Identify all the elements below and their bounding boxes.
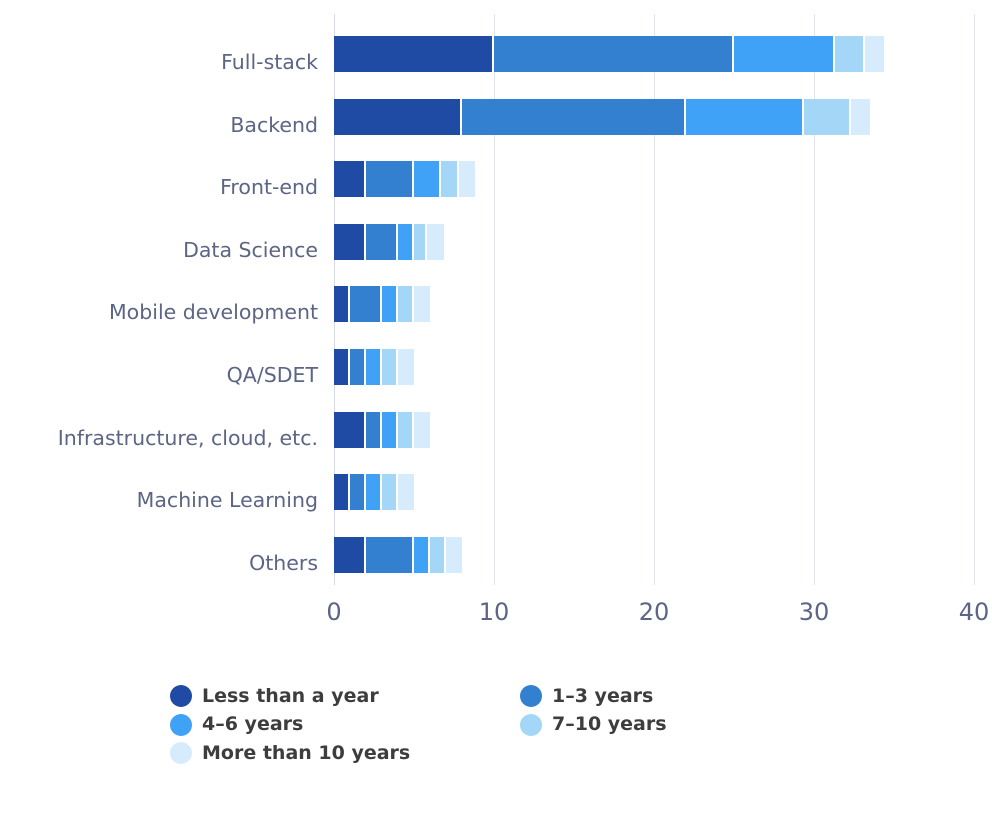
bar-segment[interactable] (334, 36, 494, 72)
bar-segment[interactable] (462, 99, 686, 135)
y-axis-label: Machine Learning (0, 490, 318, 511)
bar-segment[interactable] (366, 224, 398, 260)
y-axis-label: Infrastructure, cloud, etc. (0, 428, 318, 449)
bar-segment[interactable] (334, 537, 366, 573)
bar-row (334, 286, 974, 322)
bar-segment[interactable] (686, 99, 804, 135)
legend-label: 1–3 years (552, 687, 653, 706)
bar-segment[interactable] (414, 412, 430, 448)
legend-swatch-circle-icon (170, 714, 192, 736)
bar-segment[interactable] (366, 161, 414, 197)
bar-row (334, 224, 974, 260)
legend-label: 4–6 years (202, 715, 303, 734)
bar-segment[interactable] (398, 412, 414, 448)
bar-segment[interactable] (382, 349, 398, 385)
bar-segment[interactable] (382, 286, 398, 322)
bar-segment[interactable] (398, 286, 414, 322)
bar-segment[interactable] (427, 224, 445, 260)
bar-segment[interactable] (398, 349, 414, 385)
bar-row (334, 161, 974, 197)
bar-row (334, 412, 974, 448)
bar-row (334, 537, 974, 573)
legend-swatch-circle-icon (170, 685, 192, 707)
bar-segment[interactable] (430, 537, 446, 573)
y-axis-category-labels: Full-stackBackendFront-endData ScienceMo… (0, 22, 318, 585)
bar-row (334, 36, 974, 72)
legend-swatch-circle-icon (170, 742, 192, 764)
bar-segment[interactable] (366, 474, 382, 510)
x-axis-tick-label: 0 (326, 600, 341, 624)
bar-segment[interactable] (382, 474, 398, 510)
x-axis-tick-label: 30 (799, 600, 830, 624)
bar-row (334, 349, 974, 385)
chart-legend: Less than a year1–3 years4–6 years7–10 y… (170, 682, 730, 768)
bar-segment[interactable] (366, 537, 414, 573)
bar-segment[interactable] (851, 99, 870, 135)
bar-series-group (334, 14, 974, 585)
legend-item[interactable]: 4–6 years (170, 714, 520, 736)
legend-item[interactable]: More than 10 years (170, 742, 520, 764)
bar-segment[interactable] (334, 286, 350, 322)
bar-segment[interactable] (835, 36, 865, 72)
stacked-bar-chart: Full-stackBackendFront-endData ScienceMo… (0, 0, 992, 814)
bar-segment[interactable] (334, 349, 350, 385)
bar-segment[interactable] (350, 286, 382, 322)
x-axis-tick-labels: 010203040 (334, 600, 974, 640)
y-axis-label: Backend (0, 115, 318, 136)
bar-segment[interactable] (350, 349, 366, 385)
y-axis-label: Data Science (0, 240, 318, 261)
bar-segment[interactable] (334, 161, 366, 197)
bar-segment[interactable] (382, 412, 398, 448)
legend-swatch-circle-icon (520, 714, 542, 736)
bar-segment[interactable] (366, 349, 382, 385)
bar-segment[interactable] (804, 99, 850, 135)
legend-label: 7–10 years (552, 715, 667, 734)
bar-segment[interactable] (334, 99, 462, 135)
bar-segment[interactable] (398, 224, 414, 260)
bar-segment[interactable] (366, 412, 382, 448)
gridline-40 (974, 14, 975, 585)
y-axis-label: Front-end (0, 177, 318, 198)
legend-swatch-circle-icon (520, 685, 542, 707)
bar-segment[interactable] (459, 161, 475, 197)
bar-segment[interactable] (398, 474, 414, 510)
bar-segment[interactable] (350, 474, 366, 510)
legend-label: Less than a year (202, 687, 379, 706)
bar-segment[interactable] (494, 36, 734, 72)
bar-segment[interactable] (334, 474, 350, 510)
bar-row (334, 474, 974, 510)
x-axis-tick-label: 40 (959, 600, 990, 624)
bar-segment[interactable] (414, 224, 427, 260)
bar-segment[interactable] (441, 161, 459, 197)
y-axis-label: QA/SDET (0, 365, 318, 386)
bar-row (334, 99, 974, 135)
plot-area: Full-stackBackendFront-endData ScienceMo… (0, 0, 992, 600)
y-axis-label: Others (0, 553, 318, 574)
bar-segment[interactable] (414, 286, 430, 322)
bar-segment[interactable] (446, 537, 462, 573)
y-axis-label: Mobile development (0, 302, 318, 323)
legend-label: More than 10 years (202, 744, 410, 763)
x-axis-tick-label: 10 (479, 600, 510, 624)
plot-canvas (334, 14, 974, 585)
y-axis-label: Full-stack (0, 52, 318, 73)
bar-segment[interactable] (865, 36, 884, 72)
legend-item[interactable]: Less than a year (170, 685, 520, 707)
bar-segment[interactable] (334, 224, 366, 260)
bar-segment[interactable] (734, 36, 835, 72)
legend-item[interactable]: 1–3 years (520, 685, 730, 707)
x-axis-tick-label: 20 (639, 600, 670, 624)
bar-segment[interactable] (414, 161, 441, 197)
bar-segment[interactable] (414, 537, 430, 573)
bar-segment[interactable] (334, 412, 366, 448)
legend-item[interactable]: 7–10 years (520, 714, 730, 736)
